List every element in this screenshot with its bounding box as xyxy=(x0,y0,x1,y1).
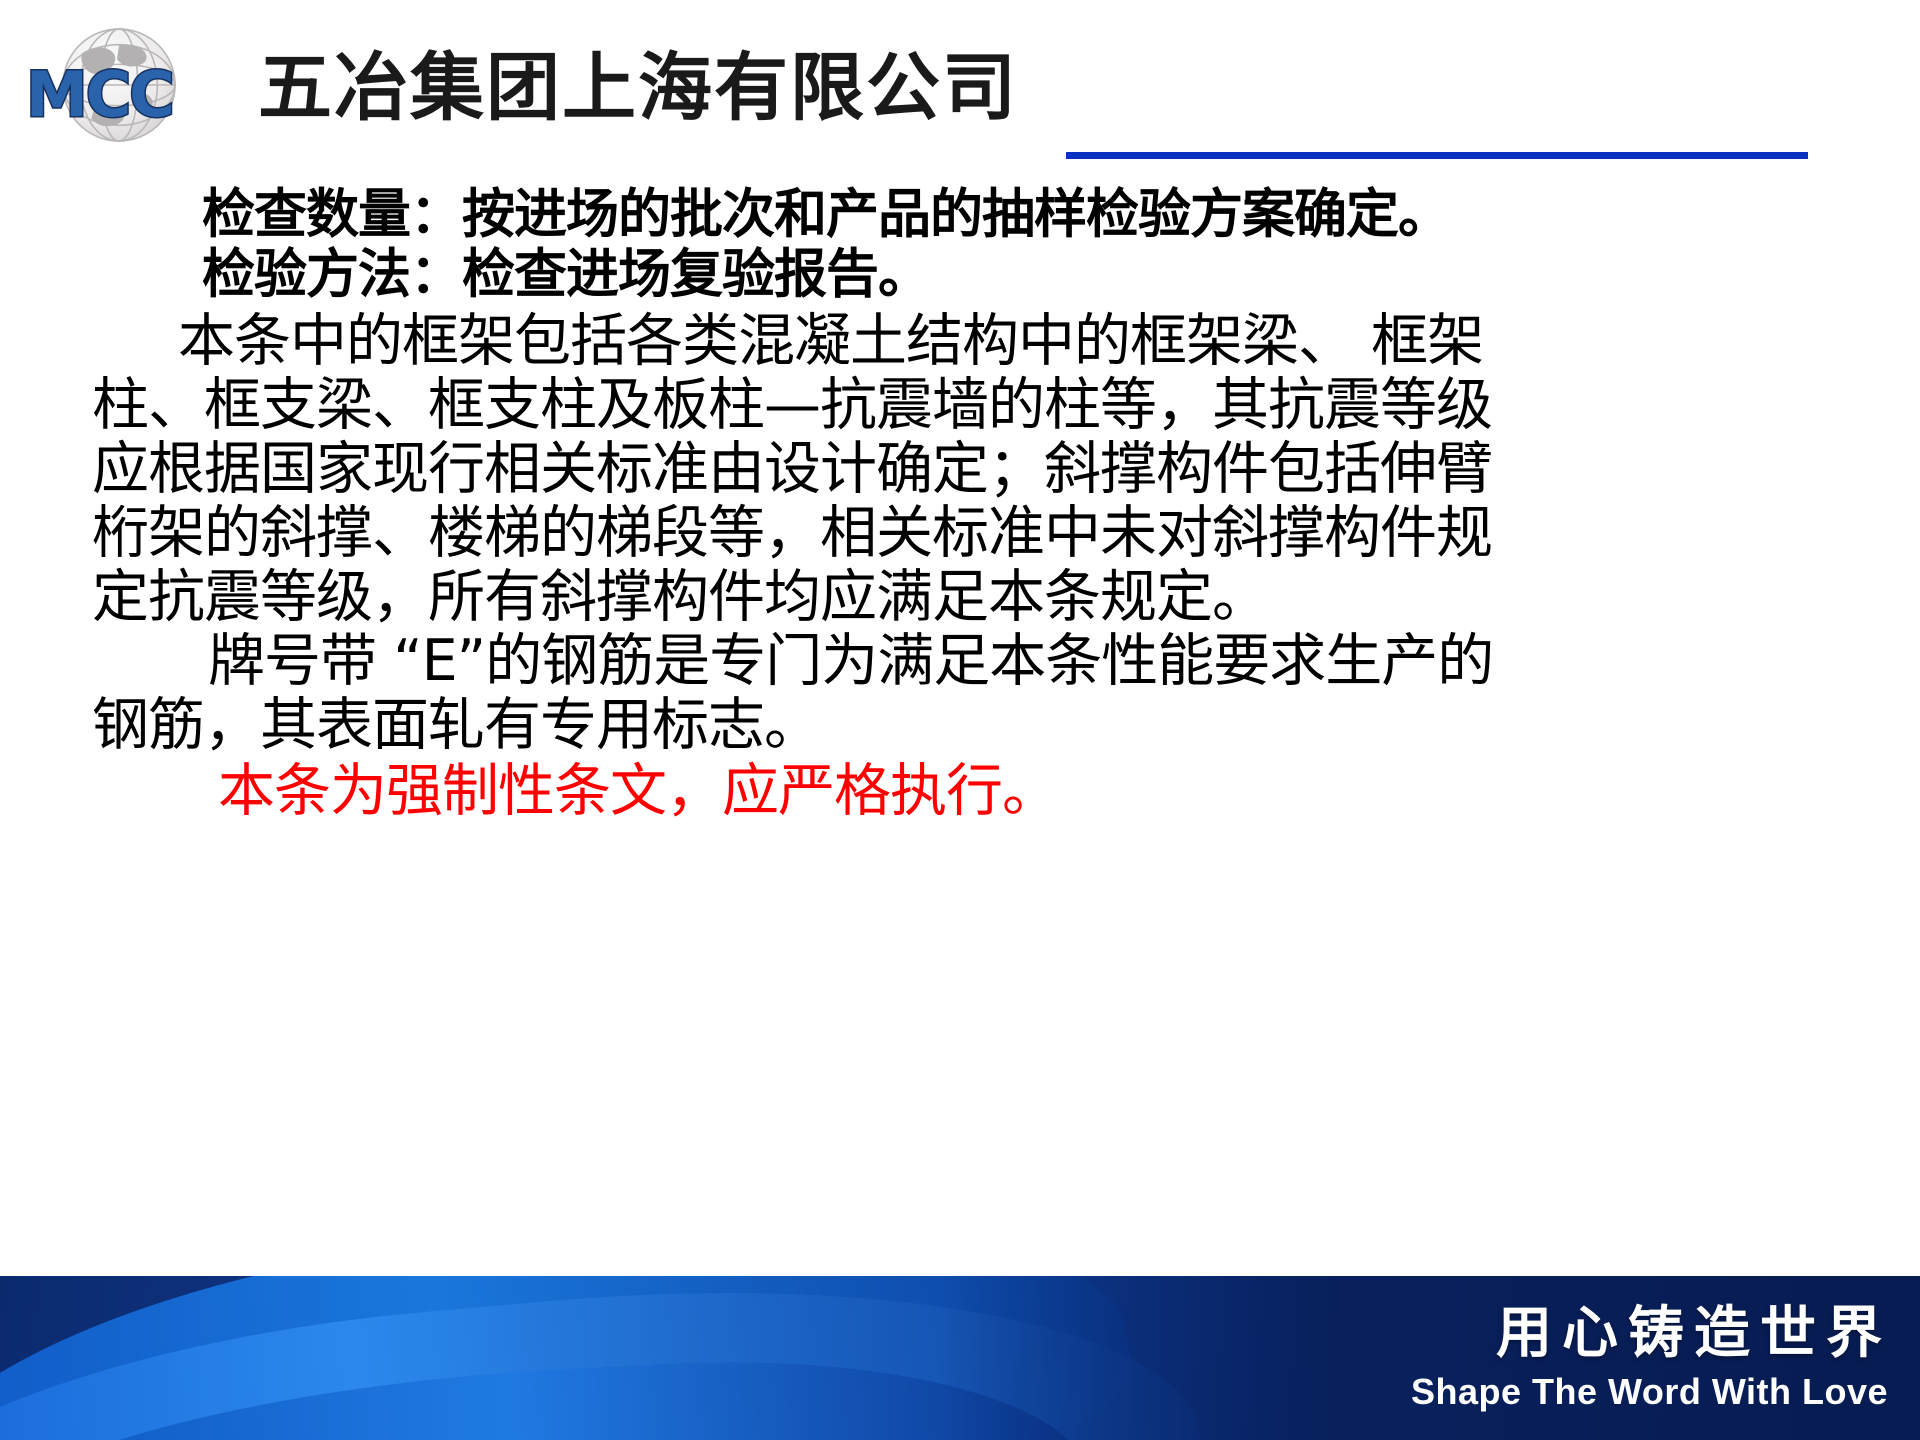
slide-header: MCC 五冶集团上海有限公司 xyxy=(0,0,1920,170)
inspection-method-line: 检验方法：检查进场复验报告。 xyxy=(202,246,930,304)
slogan-chinese: 用心铸造世界 xyxy=(1496,1304,1892,1364)
paragraph-line: 本条中的框架包括各类混凝土结构中的框架梁、 框架 xyxy=(178,310,1483,372)
paragraph-line: 牌号带 “E”的钢筋是专门为满足本条性能要求生产的 xyxy=(208,630,1493,692)
paragraph-line: 钢筋，其表面轧有专用标志。 xyxy=(92,694,820,756)
paragraph-line: 桁架的斜撑、楼梯的梯段等，相关标准中未对斜撑构件规 xyxy=(92,502,1492,564)
paragraph-line: 定抗震等级，所有斜撑构件均应满足本条规定。 xyxy=(92,566,1268,628)
slide-footer: 用心铸造世界 Shape The Word With Love xyxy=(0,1276,1920,1440)
slogan-english: Shape The Word With Love xyxy=(1411,1372,1888,1412)
mcc-logo: MCC xyxy=(20,26,250,144)
paragraph-line: 应根据国家现行相关标准由设计确定；斜撑构件包括伸臂 xyxy=(92,438,1492,500)
mandatory-clause-emphasis: 本条为强制性条文，应严格执行。 xyxy=(218,760,1058,822)
inspection-quantity-line: 检查数量：按进场的批次和产品的抽样检验方案确定。 xyxy=(202,186,1450,244)
header-divider-rule xyxy=(1066,152,1808,159)
slide-body: 检查数量：按进场的批次和产品的抽样检验方案确定。 检验方法：检查进场复验报告。 … xyxy=(0,170,1920,1270)
paragraph-line: 柱、框支梁、框支柱及板柱—抗震墙的柱等，其抗震等级 xyxy=(92,374,1492,436)
company-name: 五冶集团上海有限公司 xyxy=(258,48,1018,128)
mcc-wordmark: MCC xyxy=(26,64,241,126)
